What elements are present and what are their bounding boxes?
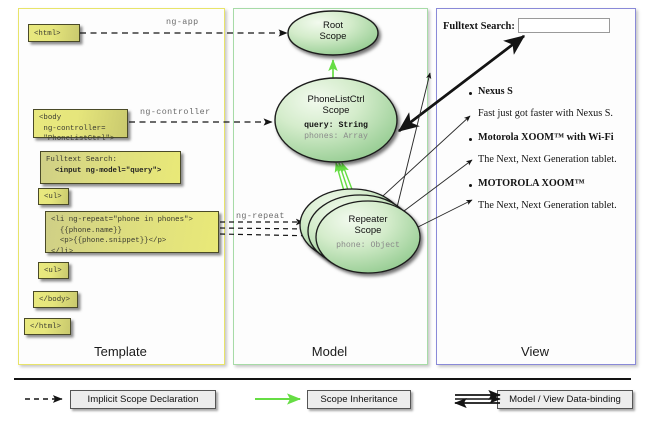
- scope-root-ellipse: [288, 11, 378, 55]
- legend-glyph-databinding: [455, 395, 500, 403]
- connector-layer: [0, 0, 645, 425]
- edge-label-ng-repeat: ng-repeat: [236, 211, 285, 221]
- scope-phonelistctrl-ellipse: [275, 78, 397, 162]
- edge-label-ng-controller: ng-controller: [140, 107, 211, 117]
- angular-scope-diagram: Template Model View: [0, 0, 645, 425]
- scope-repeater-ellipses: [300, 189, 420, 273]
- edge-label-ng-app: ng-app: [166, 17, 199, 27]
- edge-databinding-query: [399, 36, 524, 131]
